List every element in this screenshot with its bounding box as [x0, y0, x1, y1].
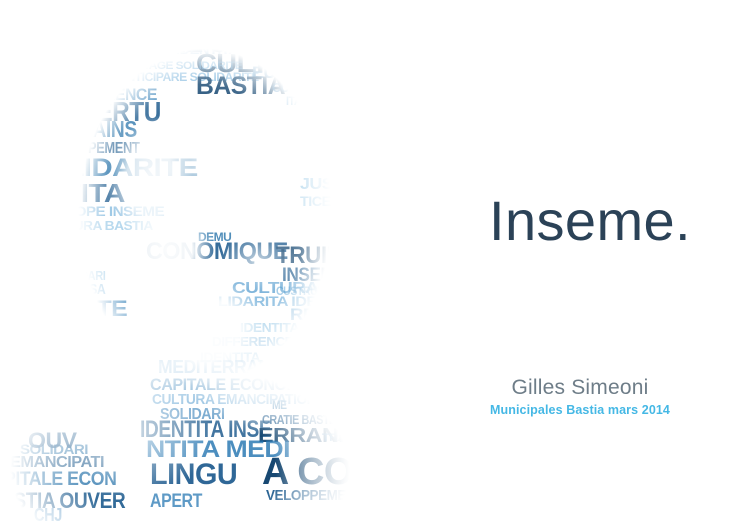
word-cloud-word: ASTIA OUVER — [0, 492, 125, 511]
word-cloud-word: SOLIDARI — [56, 270, 105, 281]
word-cloud-portrait: TRASPARENZA IDENTITA PARTAGE INSEMEANE C… — [0, 0, 430, 521]
word-cloud-word: DIFFERENCE CUSTRUI — [212, 336, 353, 347]
word-cloud-word: CHJ — [34, 508, 62, 521]
word-cloud-word: IDENTITA — [240, 322, 299, 333]
word-cloud-word: ASTIAINS — [50, 120, 137, 140]
word-cloud-word: CRATIE BASTIA — [262, 414, 339, 425]
word-cloud-word: CULTURA EMANCIPATION — [152, 394, 316, 407]
word-cloud-word: LINGU — [150, 462, 237, 488]
word-cloud-word: OLIDARITE — [44, 158, 198, 179]
word-cloud-word: OUV — [28, 432, 76, 451]
word-cloud-word: EMANCIPATI — [10, 456, 104, 470]
portrait-silhouette-mask: TRASPARENZA IDENTITA PARTAGE INSEMEANE C… — [0, 0, 430, 521]
word-cloud-word: VELOPPEMENT PARTAGE — [266, 490, 427, 503]
word-cloud-word: CULTURA BASTIA — [40, 220, 153, 231]
word-cloud-word: ITA — [286, 96, 301, 106]
word-cloud-word: A CORSA — [52, 284, 105, 297]
signature-block: Gilles Simeoni Municipales Bastia mars 2… — [430, 376, 730, 417]
word-cloud-word: APERT — [150, 494, 202, 510]
word-cloud-word: MEDITERRANEE EUROPE — [158, 360, 369, 375]
word-cloud-word: TRUIM — [276, 246, 345, 266]
word-cloud-word: JUS — [300, 178, 333, 192]
word-cloud-word: A CORSA — [262, 456, 430, 488]
word-cloud-word: TICE — [300, 196, 331, 208]
word-cloud-word: DARITE — [38, 300, 127, 319]
campaign-subtitle: Municipales Bastia mars 2014 — [430, 403, 730, 417]
word-cloud-word: CUSTRUI — [272, 82, 324, 93]
headline-slogan: Inseme. — [489, 193, 691, 249]
word-cloud-word: TRANSPARENCE — [322, 434, 419, 443]
word-cloud-word: CONOMIQUE — [146, 242, 288, 262]
word-cloud-word: ME — [272, 400, 287, 410]
word-cloud-word: EUROPE INSEME — [44, 206, 164, 218]
word-cloud-word: RRANEE — [290, 308, 366, 322]
candidate-name: Gilles Simeoni — [430, 376, 730, 401]
word-cloud-word: NTITA — [42, 182, 125, 204]
word-cloud-word: PITALE ECON — [4, 472, 116, 488]
campaign-poster: TRASPARENZA IDENTITA PARTAGE INSEMEANE C… — [0, 0, 750, 521]
